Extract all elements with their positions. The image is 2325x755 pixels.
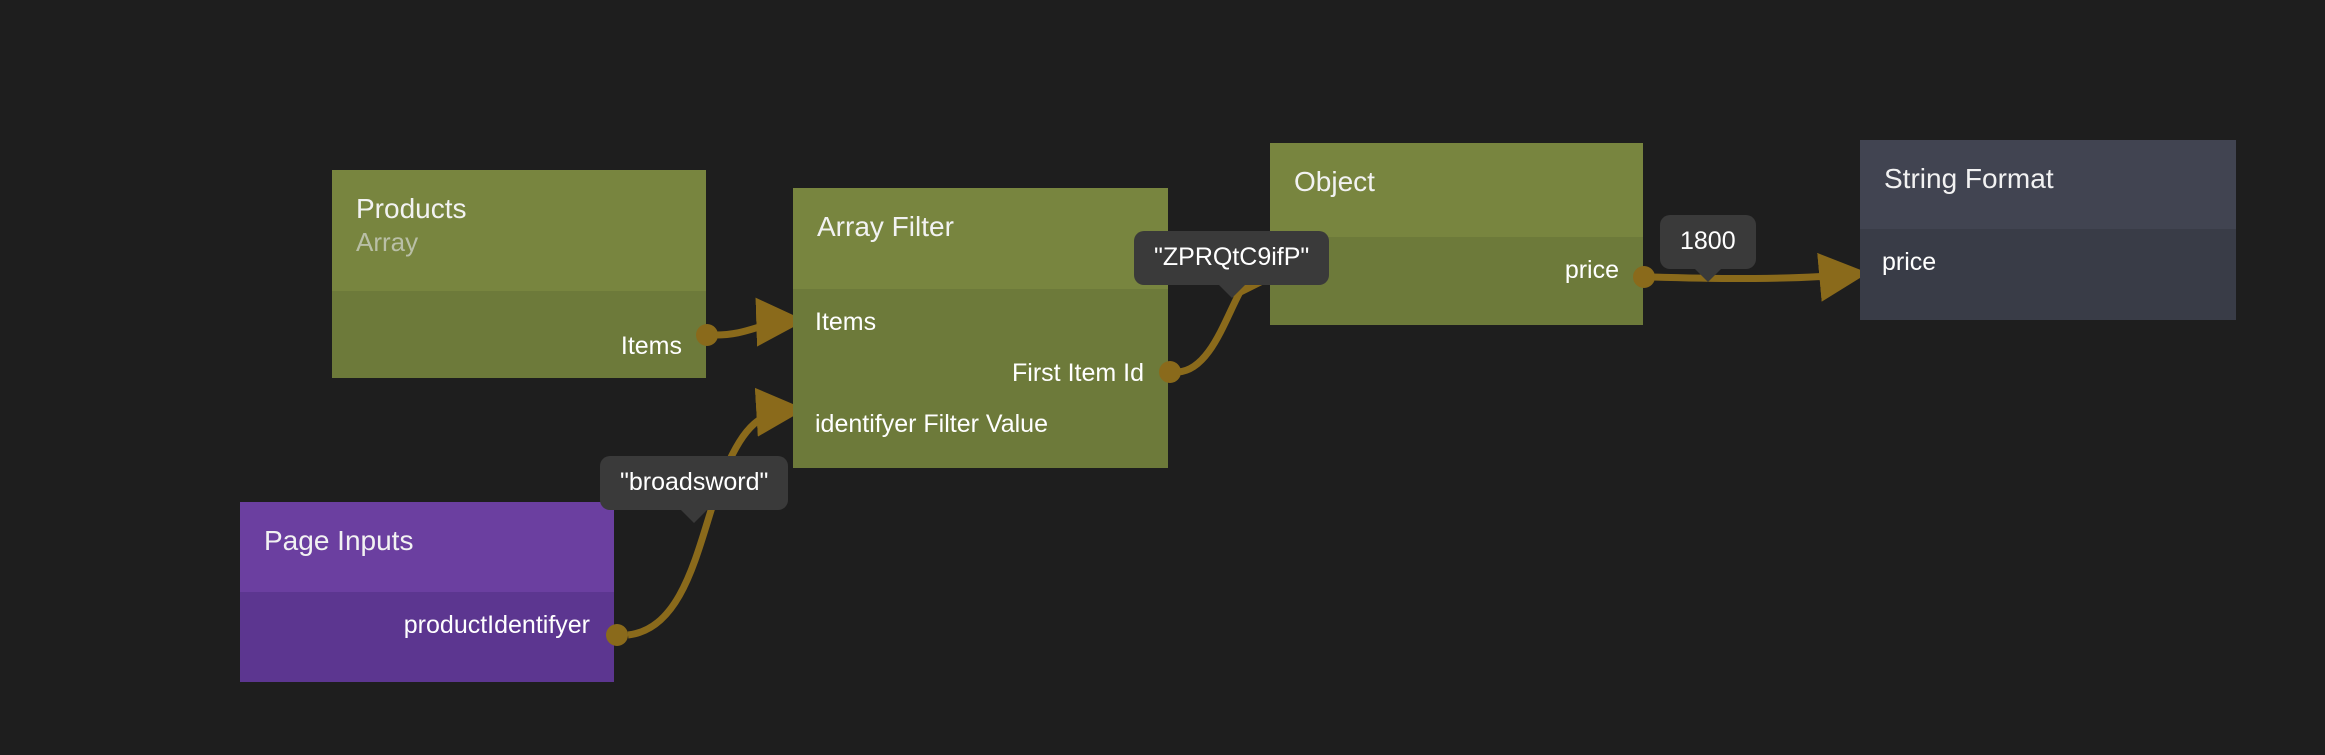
port-dot-object-price[interactable] xyxy=(1633,266,1655,288)
port-object-price[interactable]: price xyxy=(1565,255,1619,285)
node-products[interactable]: Products Array Items xyxy=(332,170,706,378)
port-array-filter-filter-value-label: identifyer Filter Value xyxy=(815,412,1048,437)
node-products-header: Products Array xyxy=(332,170,706,291)
node-page-inputs-body: productIdentifyer xyxy=(240,592,614,682)
port-array-filter-first-item-id[interactable]: First Item Id xyxy=(1012,358,1144,388)
port-array-filter-items-label: Items xyxy=(815,310,876,335)
node-page-inputs-header: Page Inputs xyxy=(240,502,614,592)
port-dot-array-filter-first-item-id[interactable] xyxy=(1159,361,1181,383)
node-products-title: Products xyxy=(356,192,682,225)
node-graph-canvas[interactable]: Products Array Items Array Filter Items … xyxy=(0,0,2325,755)
port-string-format-price[interactable]: price xyxy=(1860,247,1936,277)
tooltip-first-item-id: "ZPRQtC9ifP" xyxy=(1134,231,1329,285)
node-array-filter[interactable]: Array Filter Items First Item Id identif… xyxy=(793,188,1168,468)
tooltip-product-identifyer: "broadsword" xyxy=(600,456,788,510)
node-page-inputs-title: Page Inputs xyxy=(264,524,590,557)
port-page-inputs-product-identifyer[interactable]: productIdentifyer xyxy=(404,610,590,640)
port-products-items-label: Items xyxy=(621,334,682,359)
node-string-format[interactable]: String Format price xyxy=(1860,140,2236,320)
node-products-subtitle: Array xyxy=(356,227,682,258)
node-object-title: Object xyxy=(1294,165,1619,198)
node-page-inputs[interactable]: Page Inputs productIdentifyer xyxy=(240,502,614,682)
port-dot-products-items[interactable] xyxy=(696,324,718,346)
node-object-header: Object xyxy=(1270,143,1643,237)
edge-pageinputs-to-arrayfilter-filtervalue xyxy=(628,410,793,635)
port-page-inputs-product-identifyer-label: productIdentifyer xyxy=(404,613,590,638)
node-array-filter-title: Array Filter xyxy=(817,210,1144,243)
node-string-format-title: String Format xyxy=(1884,162,2212,195)
port-string-format-price-label: price xyxy=(1882,250,1936,275)
node-string-format-header: String Format xyxy=(1860,140,2236,229)
tooltip-price: 1800 xyxy=(1660,215,1756,269)
node-string-format-body: price xyxy=(1860,229,2236,320)
port-array-filter-filter-value[interactable]: identifyer Filter Value xyxy=(793,409,1048,439)
port-dot-page-inputs-product-identifyer[interactable] xyxy=(606,624,628,646)
edge-object-price-to-stringformat-price xyxy=(1652,274,1856,279)
node-array-filter-body: Items First Item Id identifyer Filter Va… xyxy=(793,289,1168,468)
edge-products-items-to-arrayfilter-items xyxy=(715,321,793,335)
node-array-filter-header: Array Filter xyxy=(793,188,1168,289)
port-products-items[interactable]: Items xyxy=(621,331,682,361)
port-array-filter-items[interactable]: Items xyxy=(793,307,876,337)
port-object-price-label: price xyxy=(1565,258,1619,283)
port-array-filter-first-item-id-label: First Item Id xyxy=(1012,361,1144,386)
node-products-body: Items xyxy=(332,291,706,378)
